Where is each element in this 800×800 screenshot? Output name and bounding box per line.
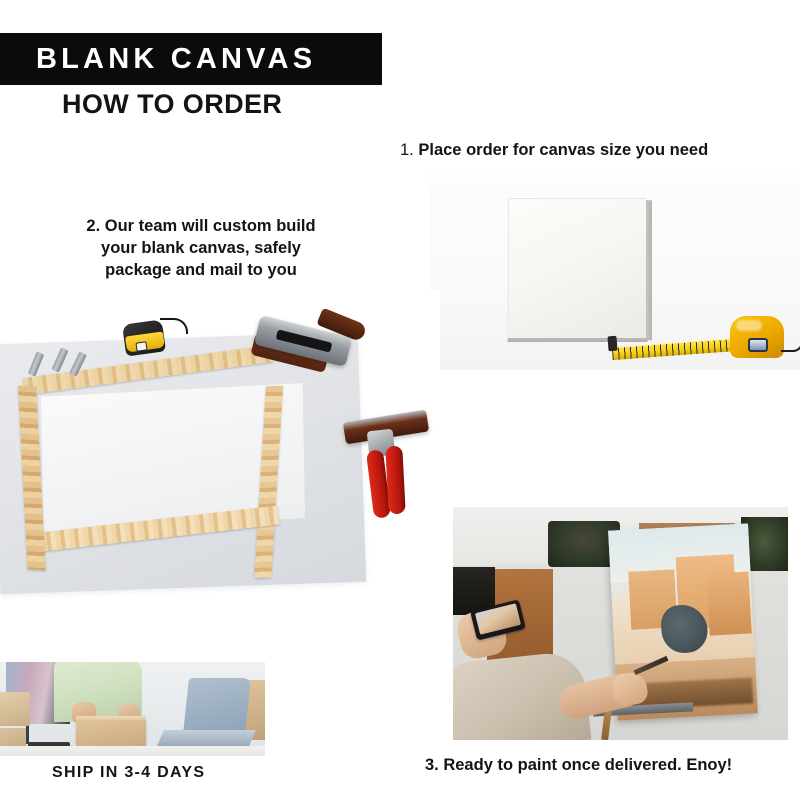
step-1-caption: 1. Place order for canvas size you need	[400, 140, 708, 162]
tape-measure-hook	[607, 336, 617, 352]
infographic-page: BLANK CANVAS HOW TO ORDER 1. Place order…	[0, 0, 800, 800]
tape-measure-window-2	[135, 341, 147, 351]
photo-packing	[0, 662, 265, 756]
step-2-line-3: package and mail to you	[46, 260, 356, 282]
page-subtitle: HOW TO ORDER	[62, 89, 282, 120]
laptop-screen	[183, 678, 251, 734]
photo-artist-painting	[453, 507, 788, 740]
canvas-front-face	[508, 198, 646, 338]
photo-frame-build	[0, 290, 440, 620]
shipping-label: SHIP IN 3-4 DAYS	[52, 764, 205, 782]
tape-measure-highlight	[736, 320, 762, 331]
step-2-caption: 2. Our team will custom build your blank…	[46, 216, 356, 281]
step-3-caption: 3. Ready to paint once delivered. Enoy!	[425, 755, 732, 777]
title-banner: BLANK CANVAS	[0, 33, 382, 85]
stacked-box-a	[0, 692, 30, 726]
staple-gun-2-grip-b	[385, 446, 406, 515]
step-2-line-2: your blank canvas, safely	[46, 238, 356, 260]
canvas-right-edge	[646, 200, 652, 340]
page-title: BLANK CANVAS	[0, 43, 316, 76]
painting-building-c	[707, 572, 752, 636]
photo-blank-canvas	[430, 170, 800, 370]
desk-surface	[0, 746, 265, 756]
step-2-line-1: 2. Our team will custom build	[46, 216, 356, 238]
tape-measure-cord-2	[160, 318, 188, 334]
step-1-number: 1.	[400, 141, 414, 159]
step-1-text: Place order for canvas size you need	[418, 141, 708, 159]
tape-measure-cord	[781, 340, 800, 352]
tape-measure-window	[748, 338, 768, 352]
